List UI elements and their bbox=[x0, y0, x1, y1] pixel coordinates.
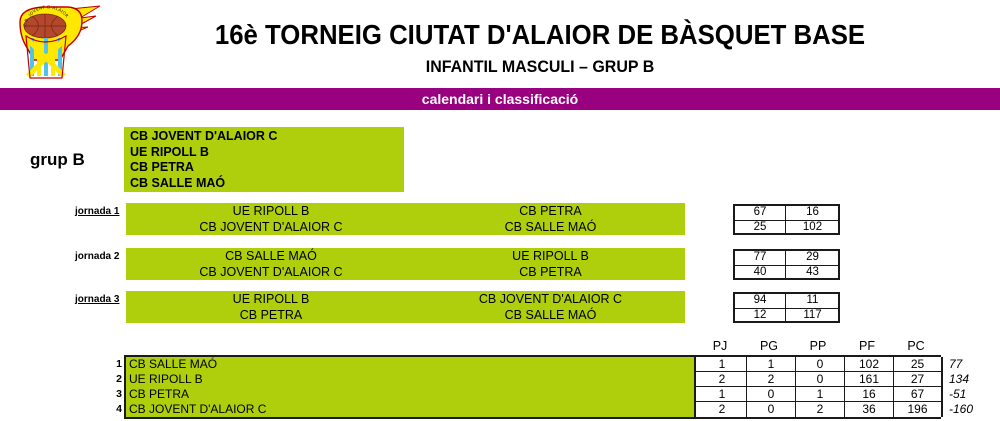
match-home-team: CB SALLE MAÓ bbox=[126, 248, 416, 264]
page-subtitle: INFANTIL MASCULI – GRUP B bbox=[136, 56, 944, 78]
column-header-pg: PG bbox=[745, 338, 793, 354]
home-score: 25 bbox=[735, 221, 786, 235]
column-header-pp: PP bbox=[794, 338, 842, 354]
cell-pj: 2 bbox=[698, 402, 747, 417]
group-team-item: CB JOVENT D'ALAIOR C bbox=[130, 129, 404, 145]
cell-pp: 0 bbox=[796, 372, 845, 387]
home-score: 67 bbox=[735, 206, 786, 220]
score-row: 77 29 bbox=[735, 251, 838, 265]
cell-pg: 2 bbox=[747, 372, 796, 387]
jornada-block-1: jornada 1 UE RIPOLL B CB PETRA CB JOVENT… bbox=[0, 203, 1000, 235]
jornada-block-3: jornada 3 UE RIPOLL B CB JOVENT D'ALAIOR… bbox=[0, 291, 1000, 323]
home-score: 40 bbox=[735, 266, 786, 280]
match-row: CB PETRA CB SALLE MAÓ bbox=[126, 307, 685, 323]
table-row: 2 UE RIPOLL B 2 2 0 161 27 134 bbox=[126, 372, 941, 387]
table-row: 4 CB JOVENT D'ALAIOR C 2 0 2 36 196 -160 bbox=[126, 402, 941, 417]
table-row: 3 CB PETRA 1 0 1 16 67 -51 bbox=[126, 387, 941, 402]
jornada-matches-bar: UE RIPOLL B CB JOVENT D'ALAIOR C CB PETR… bbox=[126, 291, 685, 323]
cell-pp: 2 bbox=[796, 402, 845, 417]
row-rank: 2 bbox=[108, 372, 122, 387]
row-rank: 3 bbox=[108, 387, 122, 402]
cell-pc: 27 bbox=[894, 372, 943, 387]
group-team-item: CB SALLE MAÓ bbox=[130, 176, 404, 192]
cell-pj: 1 bbox=[698, 357, 747, 372]
match-home-team: CB JOVENT D'ALAIOR C bbox=[126, 264, 416, 280]
score-row: 12 117 bbox=[735, 308, 838, 322]
row-team-name: CB PETRA bbox=[126, 387, 696, 402]
cb-jovent-dalaior-logo: C.B. JOVENT D'ALAIOR bbox=[8, 2, 106, 88]
row-team-name: UE RIPOLL B bbox=[126, 372, 696, 387]
away-score: 29 bbox=[787, 251, 838, 265]
away-score: 102 bbox=[787, 221, 838, 235]
tournament-calendar-page: C.B. JOVENT D'ALAIOR 16è TORNEIG CIUTAT … bbox=[0, 0, 1000, 421]
classification-table: 1 CB SALLE MAÓ 1 1 0 102 25 77 2 UE RIPO… bbox=[124, 355, 941, 419]
away-score: 43 bbox=[787, 266, 838, 280]
score-row: 94 11 bbox=[735, 294, 838, 308]
match-home-team: CB PETRA bbox=[126, 307, 416, 323]
match-away-team: CB PETRA bbox=[416, 203, 685, 219]
cell-pg: 1 bbox=[747, 357, 796, 372]
match-home-team: UE RIPOLL B bbox=[126, 291, 416, 307]
row-rank: 1 bbox=[108, 357, 122, 372]
match-home-team: UE RIPOLL B bbox=[126, 203, 416, 219]
column-header-pc: PC bbox=[892, 338, 940, 354]
cell-pf: 36 bbox=[845, 402, 894, 417]
match-row: UE RIPOLL B CB JOVENT D'ALAIOR C bbox=[126, 291, 685, 307]
match-home-team: CB JOVENT D'ALAIOR C bbox=[126, 219, 416, 235]
cell-pg: 0 bbox=[747, 387, 796, 402]
jornada-label: jornada 2 bbox=[75, 251, 119, 262]
jornada-label: jornada 3 bbox=[75, 294, 119, 305]
section-banner: calendari i classificació bbox=[0, 88, 1000, 110]
away-score: 11 bbox=[787, 294, 838, 308]
cell-pc: 67 bbox=[894, 387, 943, 402]
cell-pc: 25 bbox=[894, 357, 943, 372]
match-away-team: CB SALLE MAÓ bbox=[416, 219, 685, 235]
jornada-block-2: jornada 2 CB SALLE MAÓ UE RIPOLL B CB JO… bbox=[0, 248, 1000, 280]
match-away-team: CB PETRA bbox=[416, 264, 685, 280]
home-score: 94 bbox=[735, 294, 786, 308]
cell-pj: 2 bbox=[698, 372, 747, 387]
jornada-score-box: 94 11 12 117 bbox=[733, 292, 840, 323]
cell-pp: 1 bbox=[796, 387, 845, 402]
column-header-pf: PF bbox=[843, 338, 891, 354]
cell-pf: 161 bbox=[845, 372, 894, 387]
jornada-label: jornada 1 bbox=[75, 206, 119, 217]
cell-pp: 0 bbox=[796, 357, 845, 372]
cell-pg: 0 bbox=[747, 402, 796, 417]
column-header-pj: PJ bbox=[696, 338, 744, 354]
group-team-item: UE RIPOLL B bbox=[130, 145, 404, 161]
match-row: CB JOVENT D'ALAIOR C CB SALLE MAÓ bbox=[126, 219, 685, 235]
group-team-item: CB PETRA bbox=[130, 160, 404, 176]
home-score: 77 bbox=[735, 251, 786, 265]
cell-point-difference: -160 bbox=[945, 402, 1000, 417]
match-away-team: CB SALLE MAÓ bbox=[416, 307, 685, 323]
cell-point-difference: 134 bbox=[945, 372, 1000, 387]
away-score: 117 bbox=[787, 309, 838, 323]
row-team-name: CB SALLE MAÓ bbox=[126, 357, 696, 372]
group-label: grup B bbox=[30, 150, 85, 170]
score-row: 67 16 bbox=[735, 206, 838, 220]
match-row: CB SALLE MAÓ UE RIPOLL B bbox=[126, 248, 685, 264]
group-team-list: CB JOVENT D'ALAIOR C UE RIPOLL B CB PETR… bbox=[124, 127, 404, 192]
match-away-team: UE RIPOLL B bbox=[416, 248, 685, 264]
jornada-score-box: 67 16 25 102 bbox=[733, 204, 840, 235]
home-score: 12 bbox=[735, 309, 786, 323]
score-row: 40 43 bbox=[735, 265, 838, 279]
jornada-score-box: 77 29 40 43 bbox=[733, 249, 840, 280]
section-banner-label: calendari i classificació bbox=[0, 88, 1000, 110]
cell-pj: 1 bbox=[698, 387, 747, 402]
away-score: 16 bbox=[787, 206, 838, 220]
cell-point-difference: 77 bbox=[945, 357, 1000, 372]
row-rank: 4 bbox=[108, 402, 122, 417]
row-team-name: CB JOVENT D'ALAIOR C bbox=[126, 402, 696, 417]
score-row: 25 102 bbox=[735, 220, 838, 234]
page-title: 16è TORNEIG CIUTAT D'ALAIOR DE BÀSQUET B… bbox=[144, 18, 935, 52]
jornada-matches-bar: UE RIPOLL B CB PETRA CB JOVENT D'ALAIOR … bbox=[126, 203, 685, 235]
match-away-team: CB JOVENT D'ALAIOR C bbox=[416, 291, 685, 307]
match-row: CB JOVENT D'ALAIOR C CB PETRA bbox=[126, 264, 685, 280]
cell-pf: 102 bbox=[845, 357, 894, 372]
jornada-matches-bar: CB SALLE MAÓ UE RIPOLL B CB JOVENT D'ALA… bbox=[126, 248, 685, 280]
match-row: UE RIPOLL B CB PETRA bbox=[126, 203, 685, 219]
cell-point-difference: -51 bbox=[945, 387, 1000, 402]
cell-pc: 196 bbox=[894, 402, 943, 417]
title-block: 16è TORNEIG CIUTAT D'ALAIOR DE BÀSQUET B… bbox=[110, 18, 970, 78]
classification-header-row: PJ PG PP PF PC bbox=[0, 338, 1000, 354]
cell-pf: 16 bbox=[845, 387, 894, 402]
table-row: 1 CB SALLE MAÓ 1 1 0 102 25 77 bbox=[126, 357, 941, 372]
